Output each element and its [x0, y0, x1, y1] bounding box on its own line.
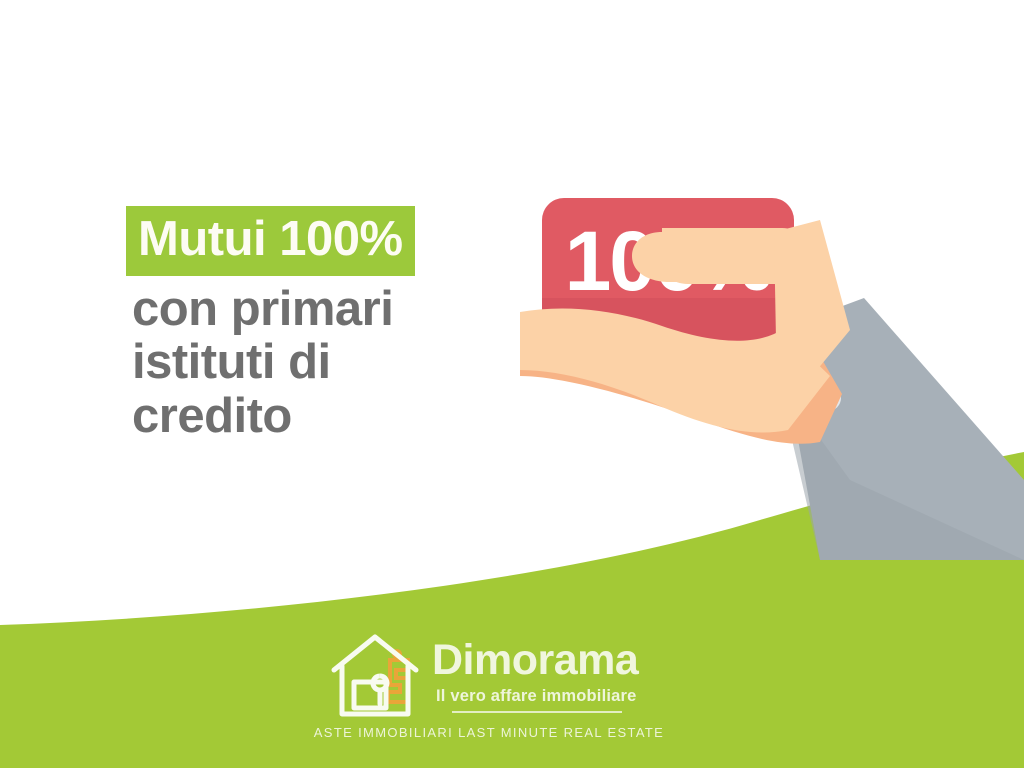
logo-wordmark: Dimorama [432, 634, 682, 686]
dimorama-logo: Dimorama Il vero affare immobiliare ASTE… [292, 628, 686, 754]
promo-banner: 100% Mutui 100% con primari istituti di … [0, 0, 1024, 768]
headline-block: Mutui 100% con primari istituti di credi… [126, 206, 506, 443]
logo-tagline: Il vero affare immobiliare [436, 686, 686, 706]
headline-highlight: Mutui 100% [126, 206, 415, 276]
house-outline-icon [328, 632, 432, 724]
headline-line-3: credito [132, 390, 506, 443]
headline-line-1: con primari [132, 283, 506, 336]
logo-divider-rule [452, 711, 622, 713]
hand-holding-percent-card-illustration: 100% [520, 180, 1024, 560]
headline-highlight-row: Mutui 100% [126, 206, 506, 276]
headline-line-2: istituti di [132, 336, 506, 389]
logo-strapline: ASTE IMMOBILIARI LAST MINUTE REAL ESTATE [292, 724, 686, 742]
headline-lines: con primari istituti di credito [126, 280, 506, 443]
